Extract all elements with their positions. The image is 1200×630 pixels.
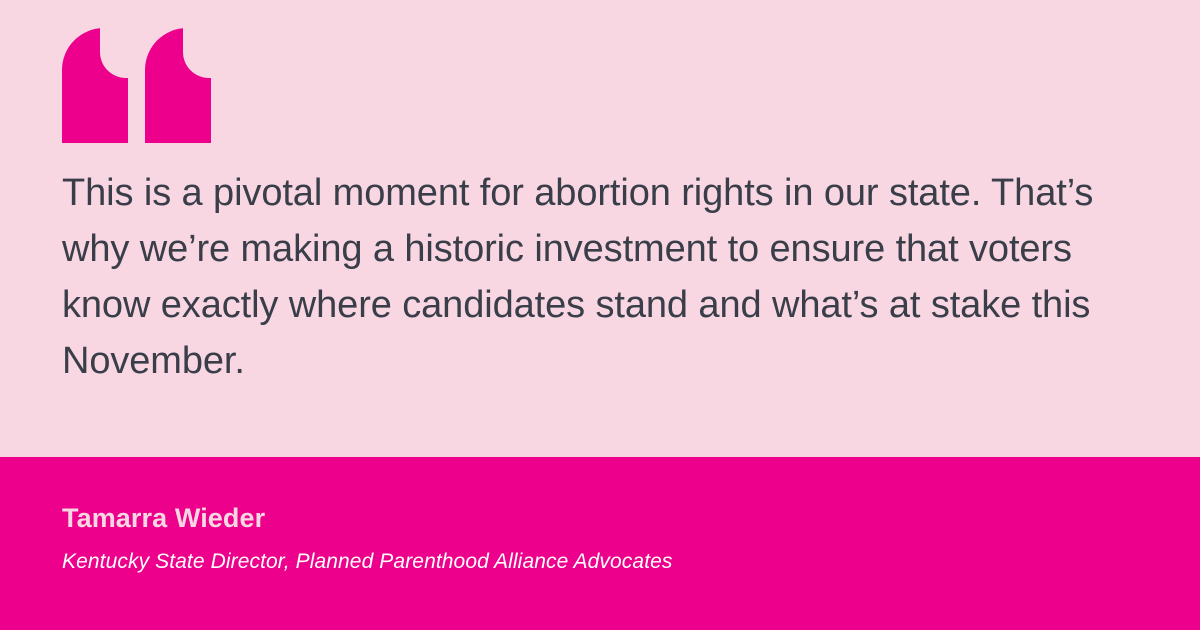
quote-text: This is a pivotal moment for abortion ri… (62, 165, 1102, 389)
quote-panel: This is a pivotal moment for abortion ri… (0, 0, 1200, 457)
attribution-name: Tamarra Wieder (62, 503, 1138, 534)
quote-card: This is a pivotal moment for abortion ri… (0, 0, 1200, 630)
quote-mark-left-glyph (62, 28, 128, 143)
double-quote-open-icon (62, 28, 211, 143)
quote-mark-right-glyph (145, 28, 211, 143)
attribution-role: Kentucky State Director, Planned Parenth… (62, 550, 1138, 574)
attribution-band: Tamarra Wieder Kentucky State Director, … (0, 457, 1200, 630)
